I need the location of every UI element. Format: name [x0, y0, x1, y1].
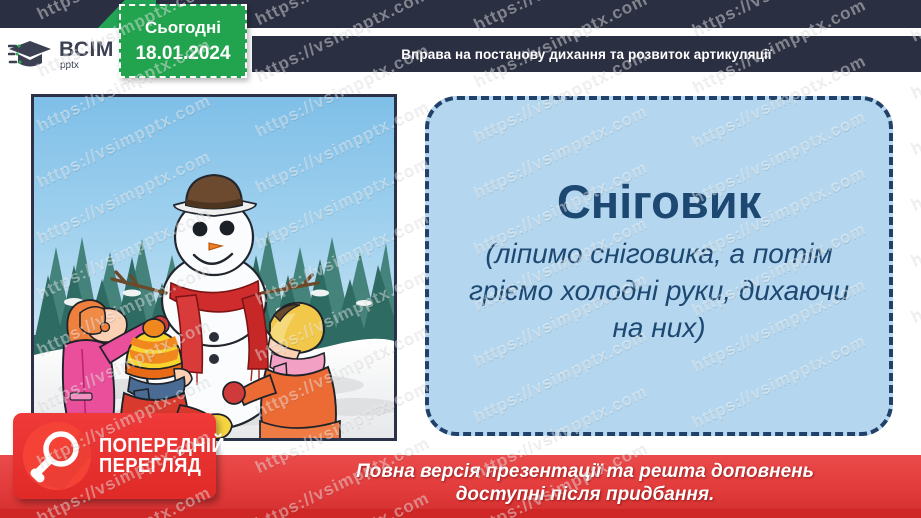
slide-root: Сніговик (ліпимо сніговика, а потім гріє…: [0, 0, 921, 518]
preview-badge-words: ПОПЕРЕДНІЙ ПЕРЕГЛЯД: [99, 436, 236, 477]
preview-badge: ПОПЕРЕДНІЙ ПЕРЕГЛЯД: [13, 413, 216, 499]
logo-suffix: pptx: [60, 61, 114, 71]
date-badge: Сьогодні 18.01.2024: [119, 4, 247, 78]
slide-body: Сніговик (ліпимо сніговика, а потім гріє…: [0, 82, 921, 455]
illustration-image: [31, 94, 397, 441]
callout-subtitle: (ліпимо сніговика, а потім гріємо холодн…: [455, 236, 863, 347]
page-title: Вправа на постанову дихання та розвиток …: [401, 47, 771, 62]
purchase-notice-text: Повна версія презентації та решта доповн…: [260, 460, 910, 506]
callout-box: Сніговик (ліпимо сніговика, а потім гріє…: [425, 96, 893, 436]
purchase-notice-line2: доступні після придбання.: [260, 483, 910, 506]
date-badge-label: Сьогодні: [145, 18, 221, 38]
logo-name: ВСІМ: [59, 39, 114, 60]
magnifier-icon: [23, 422, 91, 490]
date-badge-value: 18.01.2024: [135, 43, 230, 65]
slide-title-bar: Вправа на постанову дихання та розвиток …: [252, 36, 921, 72]
preview-badge-line2: ПЕРЕГЛЯД: [99, 456, 225, 476]
snowman-scene-svg: [34, 97, 394, 438]
graduation-cap-icon: [8, 38, 54, 72]
logo-wordmark: ВСІМ pptx: [59, 39, 114, 71]
purchase-notice-line1: Повна версія презентації та решта доповн…: [260, 460, 910, 483]
callout-title: Сніговик: [557, 177, 761, 226]
preview-badge-line1: ПОПЕРЕДНІЙ: [99, 436, 225, 456]
